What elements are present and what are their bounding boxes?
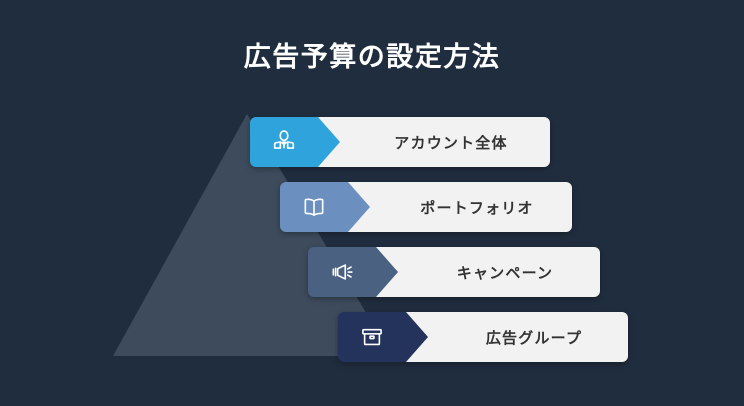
pyramid-level-row[interactable]: アカウント全体 (250, 117, 550, 167)
user-icon (271, 129, 297, 155)
pyramid-level-row[interactable]: 広告グループ (338, 312, 628, 362)
level-label-text: アカウント全体 (394, 132, 507, 153)
level-label-text: 広告グループ (486, 327, 582, 348)
pyramid-level-row[interactable]: ポートフォリオ (280, 182, 572, 232)
pyramid-levels-list: アカウント全体 ポートフォリオ (0, 0, 744, 406)
level-label-panel-2: ポートフォリオ (348, 182, 572, 232)
megaphone-icon (329, 259, 355, 285)
level-label-panel-1: アカウント全体 (318, 117, 550, 167)
level-accent-chevron-1 (250, 117, 318, 167)
level-label-text: ポートフォリオ (420, 197, 533, 218)
pyramid-level-row[interactable]: キャンペーン (308, 247, 600, 297)
book-icon (301, 194, 327, 220)
level-label-panel-3: キャンペーン (376, 247, 600, 297)
archive-box-icon (359, 324, 385, 350)
level-accent-chevron-4 (338, 312, 406, 362)
level-label-panel-4: 広告グループ (406, 312, 628, 362)
slide-canvas: 広告予算の設定方法 アカウント全体 (0, 0, 744, 406)
level-accent-chevron-2 (280, 182, 348, 232)
level-label-text: キャンペーン (457, 262, 553, 283)
level-accent-chevron-3 (308, 247, 376, 297)
